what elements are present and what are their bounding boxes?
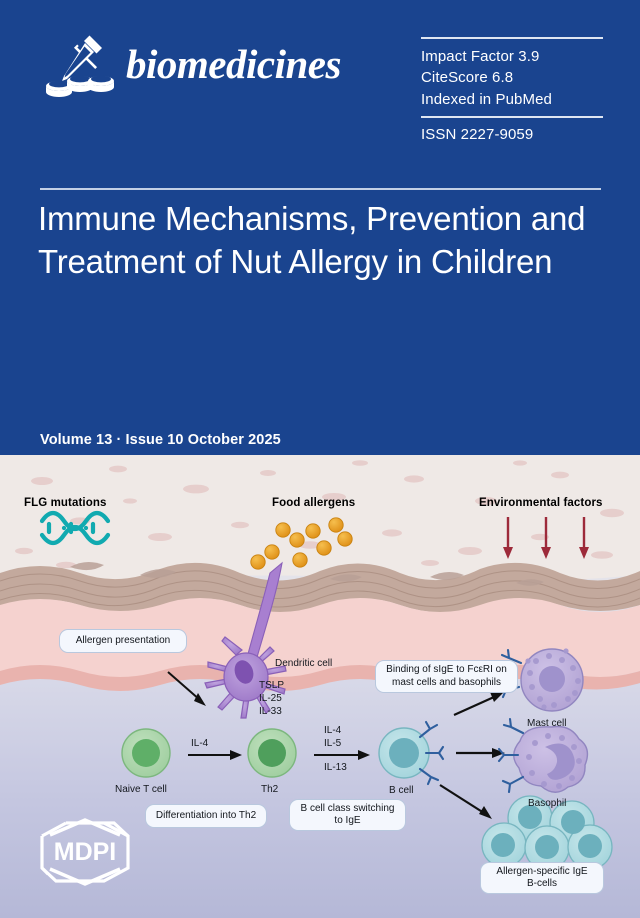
naive-t-cell [122,729,170,777]
cytokines-tslp-il25-il33: TSLP IL-25 IL-33 [259,680,284,718]
metric-impact-factor: Impact Factor 3.9 [421,46,603,67]
label-basophil: Basophil [528,798,566,811]
label-th2-cell: Th2 [261,784,278,797]
cytokine-il4-a: IL-4 [191,738,208,751]
metrics-list: Impact Factor 3.9 CiteScore 6.8 Indexed … [421,39,603,116]
cytokines-il4-il5: IL-4 IL-5 [324,725,341,751]
box-bcell-class-switching: B cell class switching to IgE [289,799,406,831]
metric-indexed: Indexed in PubMed [421,89,603,110]
cytokine-il13: IL-13 [324,762,347,775]
mdpi-wordmark: MDPI [54,838,117,866]
label-naive-t-cell: Naive T cell [115,784,167,797]
box-allergen-presentation: Allergen presentation [59,629,187,653]
pipette-petri-dish-icon [40,32,118,102]
issn-text: ISSN 2227-9059 [421,118,603,143]
journal-metrics: Impact Factor 3.9 CiteScore 6.8 Indexed … [421,37,603,143]
masthead: biomedicines [40,32,341,102]
metric-citescore: CiteScore 6.8 [421,67,603,88]
box-differentiation-th2: Differentiation into Th2 [145,804,267,828]
label-flg-mutations: FLG mutations [24,497,106,509]
label-mast-cell: Mast cell [527,718,566,731]
label-food-allergens: Food allergens [272,497,355,509]
volume-issue-line: Volume 13 · Issue 10 October 2025 [40,432,281,448]
cover-title: Immune Mechanisms, Prevention and Treatm… [38,198,613,284]
mdpi-hexagon-logo: MDPI [36,818,134,886]
title-divider [40,188,601,190]
label-dendritic-cell: Dendritic cell [275,658,332,671]
journal-cover: biomedicines Impact Factor 3.9 CiteScore… [0,0,640,918]
box-sige-fceri-binding: Binding of sIgE to FcεRI on mast cells a… [375,660,518,693]
th2-cell [248,729,296,777]
journal-title: biomedicines [126,44,341,91]
cover-header: biomedicines Impact Factor 3.9 CiteScore… [0,0,640,455]
box-allergen-specific-ige-bcells: Allergen-specific IgE B-cells [480,862,604,894]
label-environmental-factors: Environmental factors [479,497,603,509]
label-b-cell: B cell [389,785,413,798]
